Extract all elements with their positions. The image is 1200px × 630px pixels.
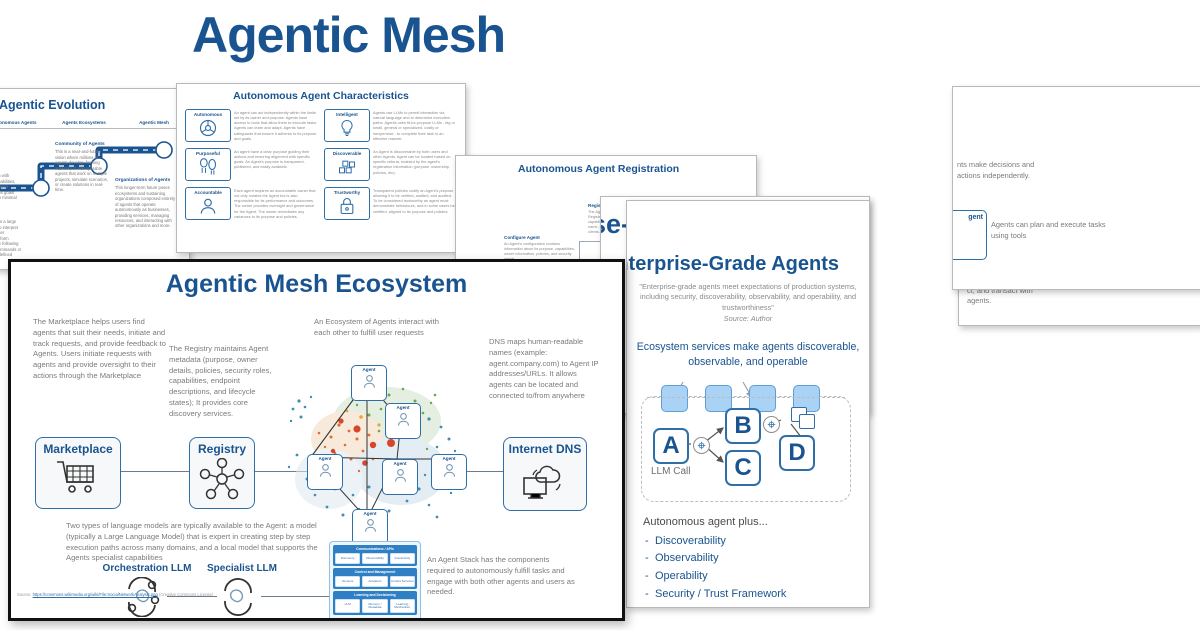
capability-item: Operability [643,568,869,586]
agent-stack-cell: LLM [335,599,360,613]
dns-description: DNS maps human-readable names (example: … [489,337,601,402]
ecosystem-service-square[interactable] [705,385,732,412]
characteristic-item[interactable]: Intelligent Agents use LLMs to permit in… [324,109,457,142]
agent-stack-row: Sensors Actuators Control Services [335,576,415,587]
network-blocks-icon [337,157,357,177]
person-icon [198,196,218,216]
agent-stack-cell: Discovery [335,553,360,564]
right-slide-text: nts make decisions and actions independe… [957,160,1167,181]
marketplace-card[interactable]: Marketplace [35,437,121,509]
slide-agentic-mesh-ecosystem[interactable]: Agentic Mesh Ecosystem The Marketplace h… [8,259,625,621]
llm-connector [261,596,333,597]
agent-stack-description: An Agent Stack has the components requir… [427,555,577,598]
agent-node-b[interactable]: B [725,408,761,444]
dialogue-icon [198,157,218,177]
evolution-track: Chatbots Autonomous Agents Agents Ecosys… [0,118,189,246]
enterprise-agent-diagram: A B C D LLM Call [639,380,857,508]
agent-stack-cell: Sensors [335,576,360,587]
registry-description: The Registry maintains Agent metadata (p… [169,344,281,419]
source-link[interactable]: https://commons.wikimedia.org/wiki/File:… [33,592,158,597]
characteristic-badge: Accountable [185,187,231,220]
agent-node[interactable]: Agent [385,403,421,439]
characteristic-item[interactable]: Purposeful An agent have a clear purpose… [185,148,318,181]
slide-collage-canvas: Agentic Mesh Agentic Evolution Chatbots … [0,0,1200,630]
network-hub-icon [199,458,245,500]
internet-dns-card[interactable]: Internet DNS [503,437,587,511]
specialist-llm[interactable]: Specialist LLM [197,563,287,574]
shopping-cart-icon [55,458,101,498]
right-slide-box-text: Agents can plan and execute tasks using … [991,220,1111,241]
agent-avatar-icon [361,372,378,389]
agent-stack-row: LLM Memory / Metadata Learning Mechanism [335,599,415,613]
agent-node[interactable]: Agent [352,509,388,545]
llm-call-label: LLM Call [651,466,690,479]
llm-call-joint [693,437,710,454]
evolution-axis-line [0,128,185,129]
capability-item: Discoverability [643,533,869,551]
page-title: Agentic Mesh [192,6,505,64]
agent-stack-group: Communications / APIs Discovery Observab… [333,545,417,566]
orchestration-llm[interactable]: Orchestration LLM [97,563,197,574]
evolution-card: Multi-Agents Multiple agents, each with … [0,166,17,206]
agent-stack-cell: Memory / Metadata [362,599,387,613]
llm-call-joint [763,416,780,433]
gear-small-icon [767,420,776,429]
characteristic-badge: Intelligent [324,109,370,142]
slide-title-main: Agentic Mesh Ecosystem [11,270,622,299]
enterprise-subtitle: Ecosystem services make agents discovera… [627,340,869,370]
evolution-stage: Agentic Mesh [128,120,180,126]
agent-node[interactable]: Agent [382,459,418,495]
agent-avatar-icon [441,461,458,478]
evolution-card: Community of Agents This is a near-and-f… [55,142,111,193]
slide-title-registration: Autonomous Agent Registration [456,163,756,175]
agent-stack-footer: Run-time Environment [333,618,417,621]
slide-agentic-evolution[interactable]: Agentic Evolution Chatbots Autonomous Ag… [0,88,190,270]
steering-wheel-icon [198,118,218,138]
agent-node[interactable]: Agent [431,454,467,490]
evolution-card: Organizations of Agents This longer-term… [115,178,177,229]
slide-title-evolution: Agentic Evolution [0,98,189,112]
backbone-connector [119,471,191,472]
characteristic-item[interactable]: Discoverable An Agent is discoverable by… [324,148,457,181]
source-citation: Source: https://commons.wikimedia.org/wi… [17,592,213,597]
slide-right-primary[interactable]: nts make decisions and actions independe… [952,86,1200,290]
tool-output-icon [799,414,815,429]
evolution-card: Simple Agents A system that uses a large… [0,212,23,263]
capability-list-header: Autonomous agent plus... [643,514,869,532]
agent-stack-cell: Learning Mechanism [390,599,415,613]
characteristic-badge: Trustworthy [324,187,370,220]
agent-stack[interactable]: Communications / APIs Discovery Observab… [329,541,421,621]
characteristics-grid: Autonomous An agent can act independentl… [177,109,465,220]
ecosystem-diagram: The Marketplace helps users find agents … [11,299,622,599]
ecosystem-description: An Ecosystem of Agents interact with eac… [314,317,440,339]
agent-avatar-icon [362,516,379,533]
characteristics-column-left: Autonomous An agent can act independentl… [185,109,318,220]
lock-icon [337,196,357,216]
ecosystem-dashed-rail [647,397,845,398]
slide-enterprise-grade-agents[interactable]: Enterprise-Grade Agents "Enterprise-grad… [626,200,870,608]
agent-stack-group: Control and Management Sensors Actuators… [333,568,417,589]
characteristic-badge: Purposeful [185,148,231,181]
agent-stack-group: Learning and Decisioning LLM Memory / Me… [333,591,417,615]
characteristic-item[interactable]: Trustworthy Transparent policies codify … [324,187,457,220]
agent-stack-cell: Control Services [390,576,415,587]
registration-step-text: Configure Agent An Agent's configuration… [504,235,576,262]
capability-item: Observability [643,550,869,568]
specialist-llm-icon [215,577,261,617]
agent-avatar-icon [392,466,409,483]
marketplace-description: The Marketplace helps users find agents … [33,317,169,382]
ecosystem-service-square[interactable] [661,385,688,412]
agent-stack-cell: Interactivity [390,553,415,564]
evolution-stage: Agents Ecosystems [58,120,110,126]
slide-agent-characteristics[interactable]: Autonomous Agent Characteristics Autonom… [176,83,466,253]
characteristic-badge: Autonomous [185,109,231,142]
evolution-stage-list: Chatbots Autonomous Agents Agents Ecosys… [0,120,189,126]
cloud-monitor-icon [518,458,572,502]
registry-card[interactable]: Registry [189,437,255,509]
characteristics-column-right: Intelligent Agents use LLMs to permit in… [324,109,457,220]
agent-node[interactable]: Agent [351,365,387,401]
slide-title-characteristics: Autonomous Agent Characteristics [177,90,465,102]
characteristic-item[interactable]: Autonomous An agent can act independentl… [185,109,318,142]
characteristic-badge: Discoverable [324,148,370,181]
agent-node-d[interactable]: D [779,435,815,471]
agent-stack-cell: Observability [362,553,387,564]
enterprise-source: Source: Author [627,314,869,323]
enterprise-quote: "Enterprise-grade agents meet expectatio… [627,276,869,313]
evolution-stage: Autonomous Agents [0,120,40,126]
characteristic-item[interactable]: Accountable Each agent requires an accou… [185,187,318,220]
agent-stack-row: Discovery Observability Interactivity [335,553,415,564]
agent-node[interactable]: Agent [307,454,343,490]
slide-title-enterprise: Enterprise-Grade Agents [626,253,869,276]
right-slide-agent-box[interactable]: gent [952,210,987,260]
agent-avatar-icon [317,461,334,478]
agent-node-c[interactable]: C [725,450,761,486]
enterprise-capability-list: Autonomous agent plus... Discoverability… [643,514,869,604]
lightbulb-icon [337,118,357,138]
agent-avatar-icon [395,410,412,427]
gear-small-icon [697,441,706,450]
agent-stack-cell: Actuators [362,576,387,587]
capability-item: Security / Trust Framework [643,586,869,604]
orchestration-llm-icon [119,577,165,617]
agent-node-a[interactable]: A [653,428,689,464]
